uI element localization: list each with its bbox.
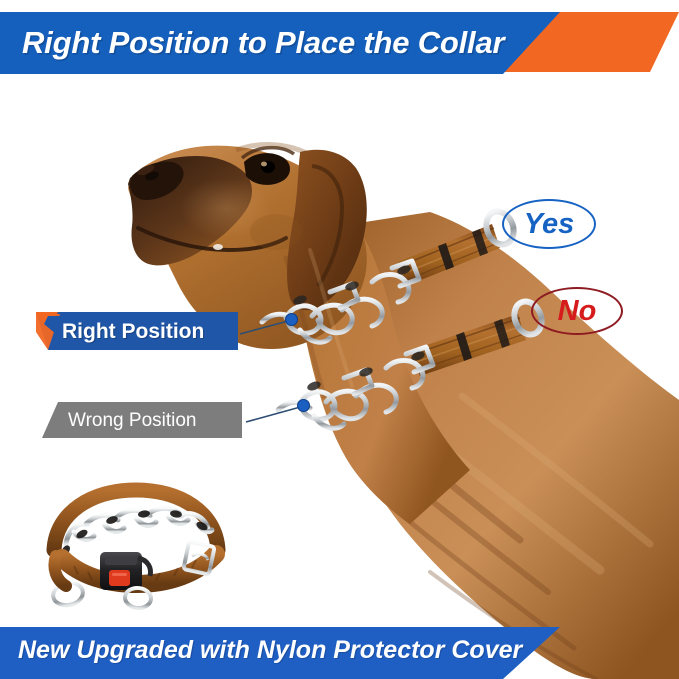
- callout-right-position[interactable]: Right Position: [34, 310, 244, 354]
- no-badge-label: No: [558, 295, 597, 328]
- callout-wrong-shape: [40, 400, 246, 442]
- yes-badge-label: Yes: [524, 208, 575, 241]
- product-photo-prong-collar: [26, 472, 244, 612]
- footer-banner: New Upgraded with Nylon Protector Cover: [0, 621, 679, 679]
- callout-wrong-position[interactable]: Wrong Position: [40, 400, 246, 442]
- prong-collar-illustration: [26, 472, 244, 612]
- callout-right-shape: [34, 310, 244, 354]
- poster-root: Right Position to Place the Collar New U…: [0, 0, 679, 679]
- callout-right-body: [36, 312, 238, 350]
- header-banner: Right Position to Place the Collar: [0, 6, 679, 80]
- callout-wrong-body: [42, 402, 242, 438]
- header-banner-shapes: [0, 6, 679, 80]
- dog-jowl-shade: [250, 214, 302, 250]
- yes-badge: Yes: [502, 199, 596, 249]
- header-blue-shape: [0, 12, 560, 74]
- footer-banner-shape: [0, 621, 679, 679]
- footer-blue-shape: [0, 627, 560, 679]
- dog-tooth: [213, 244, 223, 250]
- buckle-release-button: [109, 570, 130, 586]
- no-badge: No: [531, 287, 623, 335]
